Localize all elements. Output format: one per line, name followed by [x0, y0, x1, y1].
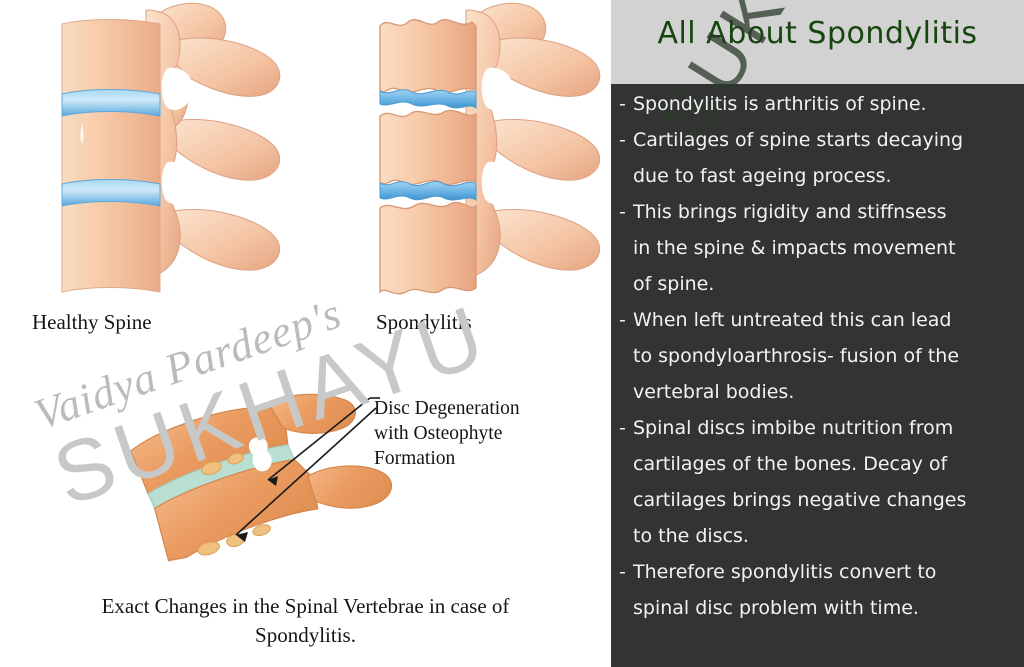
infographic-root: Healthy Spine Spondylitis	[0, 0, 1024, 667]
callout-disc-degeneration: Disc Degeneration with Osteophyte Format…	[374, 396, 520, 471]
callout-line-1: Disc Degeneration	[374, 396, 520, 421]
callout-line-2: with Osteophyte	[374, 421, 520, 446]
callout-line-3: Formation	[374, 446, 520, 471]
list-item-line: Cartilages of spine starts decaying	[633, 129, 963, 151]
figure-label-healthy-spine: Healthy Spine	[32, 310, 152, 335]
healthy-spine-illustration	[20, 2, 290, 302]
spondylitis-spine-illustration	[340, 2, 610, 302]
bottom-caption-line-1: Exact Changes in the Spinal Vertebrae in…	[0, 592, 611, 621]
list-item-line: of spine.	[633, 273, 714, 295]
bullet-marker: -	[619, 86, 633, 122]
vertebral-bodies	[62, 20, 160, 293]
list-item: -When left untreated this can lead to sp…	[619, 302, 1014, 410]
list-item-line: vertebral bodies.	[633, 381, 794, 403]
figure-label-spondylitis: Spondylitis	[376, 310, 472, 335]
list-item: -Cartilages of spine starts decaying due…	[619, 122, 1014, 194]
info-panel: All About Spondylitis SUKHAYU -Spondylit…	[611, 0, 1024, 667]
vertebral-processes	[146, 3, 280, 278]
list-item-line: This brings rigidity and stiffnsess	[633, 201, 947, 223]
vertebral-processes	[466, 3, 600, 278]
list-item-line: Spinal discs imbibe nutrition from	[633, 417, 953, 439]
vertebra-closeup-illustration	[118, 380, 408, 600]
list-item-line: spinal disc problem with time.	[633, 597, 919, 619]
list-item-line: in the spine & impacts movement	[633, 237, 956, 259]
list-item-line: When left untreated this can lead	[633, 309, 951, 331]
list-item-line: to spondyloarthrosis- fusion of the	[633, 345, 959, 367]
bottom-caption: Exact Changes in the Spinal Vertebrae in…	[0, 592, 611, 650]
list-item: -Therefore spondylitis convert to spinal…	[619, 554, 1014, 626]
bullet-marker: -	[619, 302, 633, 338]
list-item-line: to the discs.	[633, 525, 749, 547]
list-item-line: Spondylitis is arthritis of spine.	[633, 93, 927, 115]
list-item: -Spinal discs imbibe nutrition from cart…	[619, 410, 1014, 554]
list-item-line: cartilages of the bones. Decay of	[633, 453, 947, 475]
bullet-marker: -	[619, 194, 633, 230]
degenerated-vertebral-bodies	[380, 20, 476, 294]
list-item-line: due to fast ageing process.	[633, 165, 892, 187]
bullet-marker: -	[619, 554, 633, 590]
bottom-caption-line-2: Spondylitis.	[0, 621, 611, 650]
illustration-pane: Healthy Spine Spondylitis	[0, 0, 611, 667]
list-item-line: Therefore spondylitis convert to	[633, 561, 936, 583]
bullet-marker: -	[619, 122, 633, 158]
tilted-vertebra-group	[128, 380, 396, 568]
list-item-line: cartilages brings negative changes	[633, 489, 966, 511]
list-item: -This brings rigidity and stiffnsess in …	[619, 194, 1014, 302]
page-title: All About Spondylitis	[611, 16, 1024, 51]
fact-list: -Spondylitis is arthritis of spine. -Car…	[611, 86, 1024, 626]
bullet-marker: -	[619, 410, 633, 446]
list-item: -Spondylitis is arthritis of spine.	[619, 86, 1014, 122]
